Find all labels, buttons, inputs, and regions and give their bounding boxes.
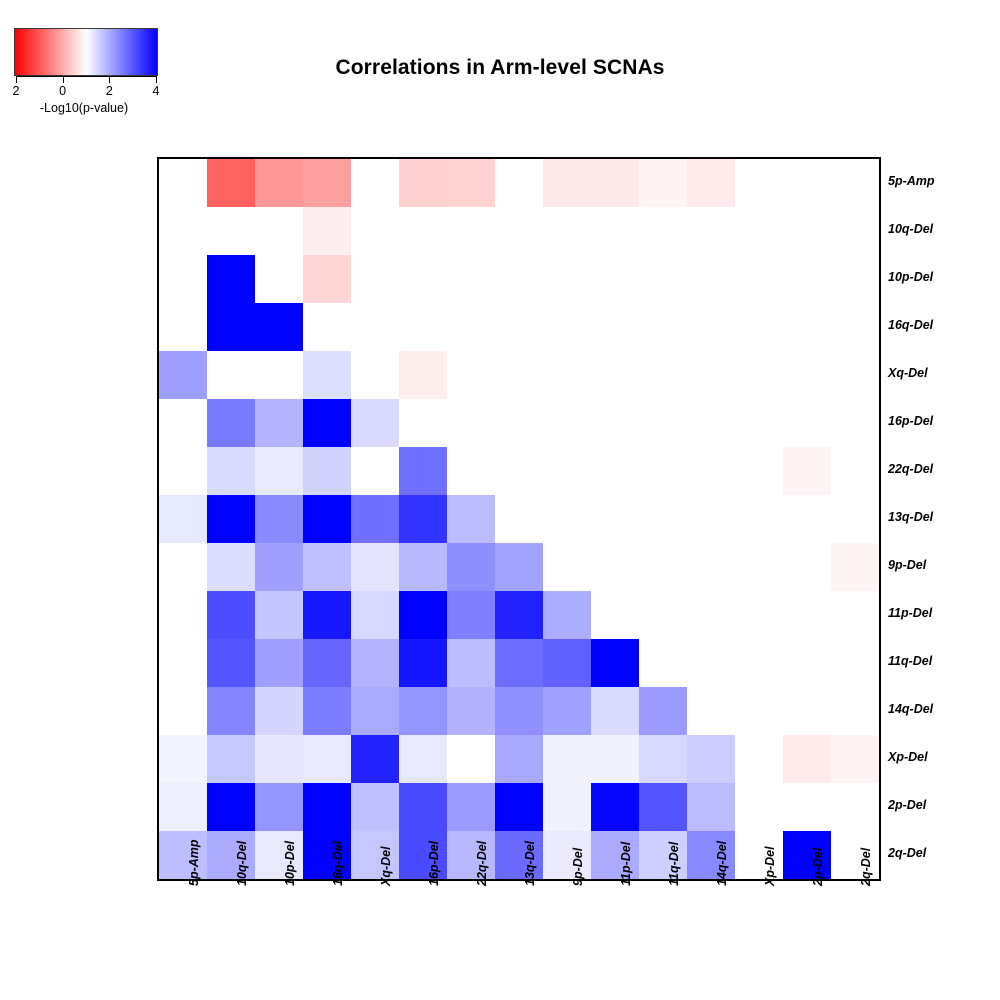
heatmap-cell[interactable] [639,159,687,207]
row-label-11q-del: 11q-Del [888,637,932,685]
heatmap-cell[interactable] [255,399,303,447]
column-label-text: 2p-Del [811,848,825,886]
heatmap-cell[interactable] [207,687,255,735]
row-label-2q-del: 2q-Del [888,829,926,877]
heatmap-cell[interactable] [399,159,447,207]
heatmap-cell[interactable] [303,783,351,831]
heatmap-cell[interactable] [351,687,399,735]
heatmap-cell[interactable] [591,687,639,735]
row-label-5p-amp: 5p-Amp [888,157,935,205]
row-label-2p-del: 2p-Del [888,781,926,829]
column-label-text: 22q-Del [475,841,489,886]
heatmap-cell[interactable] [255,591,303,639]
row-label-10p-del: 10p-Del [888,253,933,301]
colorbar-tick-label-3: 4 [146,84,166,98]
heatmap-cell[interactable] [447,591,495,639]
heatmap-cell[interactable] [399,351,447,399]
heatmap-cell[interactable] [207,735,255,783]
column-label-text: 5p-Amp [187,839,201,886]
page-title: Correlations in Arm-level SCNAs [0,56,1000,80]
heatmap-cell[interactable] [447,159,495,207]
heatmap-cell[interactable] [255,303,303,351]
heatmap-cell[interactable] [399,543,447,591]
heatmap-cell[interactable] [399,783,447,831]
heatmap-cell[interactable] [543,687,591,735]
heatmap-cell[interactable] [159,495,207,543]
heatmap-cell[interactable] [399,735,447,783]
heatmap-cell[interactable] [543,591,591,639]
heatmap-cell[interactable] [255,639,303,687]
heatmap-cell[interactable] [495,783,543,831]
heatmap-cell[interactable] [543,735,591,783]
heatmap-cell[interactable] [207,591,255,639]
heatmap-cell[interactable] [495,543,543,591]
heatmap-cell[interactable] [447,639,495,687]
heatmap-cell[interactable] [447,543,495,591]
heatmap-cell[interactable] [303,207,351,255]
column-label-text: 10p-Del [283,841,297,886]
heatmap-cell[interactable] [495,687,543,735]
heatmap-cell[interactable] [207,303,255,351]
heatmap-cell[interactable] [255,735,303,783]
heatmap-grid [159,159,879,879]
heatmap-cell[interactable] [255,159,303,207]
heatmap-cell[interactable] [303,543,351,591]
colorbar-caption: -Log10(p-value) [12,101,156,115]
heatmap-cell[interactable] [639,783,687,831]
heatmap-cell[interactable] [351,495,399,543]
heatmap-cell[interactable] [495,159,543,207]
colorbar-tick-label-1: 0 [53,84,73,98]
heatmap-cell[interactable] [495,591,543,639]
heatmap-cell[interactable] [207,159,255,207]
heatmap-cell[interactable] [687,783,735,831]
column-label-text: 13q-Del [523,841,537,886]
heatmap-cell[interactable] [591,639,639,687]
heatmap-cell[interactable] [303,639,351,687]
row-label-10q-del: 10q-Del [888,205,933,253]
heatmap-cell[interactable] [207,447,255,495]
heatmap-cell[interactable] [351,783,399,831]
heatmap-cell[interactable] [543,159,591,207]
colorbar-tick-labels: 2024 [10,84,162,100]
column-label-text: 9p-Del [571,848,585,886]
column-label-text: 2q-Del [859,848,873,886]
heatmap-cell[interactable] [207,495,255,543]
heatmap-cell[interactable] [831,735,879,783]
column-label-text: 16p-Del [427,841,441,886]
column-label-text: 10q-Del [235,841,249,886]
heatmap-cell[interactable] [207,543,255,591]
heatmap-cell[interactable] [399,639,447,687]
heatmap-cell[interactable] [255,495,303,543]
row-label-11p-del: 11p-Del [888,589,932,637]
heatmap-cell[interactable] [399,495,447,543]
column-label-text: Xp-Del [763,846,777,886]
heatmap-cell[interactable] [159,735,207,783]
heatmap-plot-area [157,157,881,881]
row-label-22q-del: 22q-Del [888,445,933,493]
heatmap-cell[interactable] [207,783,255,831]
heatmap-cell[interactable] [303,687,351,735]
heatmap-cell[interactable] [303,399,351,447]
heatmap-cell[interactable] [351,543,399,591]
column-label-text: 11q-Del [667,842,681,886]
heatmap-cell[interactable] [639,687,687,735]
heatmap-cell[interactable] [303,495,351,543]
column-label-text: 16q-Del [331,841,345,886]
heatmap-cell[interactable] [159,783,207,831]
heatmap-cell[interactable] [207,399,255,447]
row-label-13q-del: 13q-Del [888,493,933,541]
row-label-xp-del: Xp-Del [888,733,928,781]
column-label-text: 11p-Del [619,842,633,886]
row-label-14q-del: 14q-Del [888,685,933,733]
column-label-text: Xq-Del [379,846,393,886]
heatmap-cell[interactable] [303,447,351,495]
heatmap-cell[interactable] [207,255,255,303]
heatmap-cell[interactable] [687,159,735,207]
heatmap-cell[interactable] [399,687,447,735]
column-label-text: 14q-Del [715,841,729,886]
row-label-16q-del: 16q-Del [888,301,933,349]
colorbar-tick-label-2: 2 [99,84,119,98]
heatmap-cell[interactable] [447,495,495,543]
heatmap-cell[interactable] [399,447,447,495]
heatmap-cell[interactable] [351,447,399,495]
heatmap-cell[interactable] [591,159,639,207]
row-label-16p-del: 16p-Del [888,397,933,445]
heatmap-cell[interactable] [303,255,351,303]
heatmap-cell[interactable] [255,447,303,495]
row-label-xq-del: Xq-Del [888,349,928,397]
heatmap-cell[interactable] [255,783,303,831]
heatmap-cell[interactable] [255,543,303,591]
heatmap-cell[interactable] [831,543,879,591]
heatmap-cell[interactable] [207,639,255,687]
heatmap-cell[interactable] [783,735,831,783]
heatmap-cell[interactable] [783,447,831,495]
heatmap-cell[interactable] [495,735,543,783]
heatmap-cell[interactable] [543,783,591,831]
heatmap-cell[interactable] [351,159,399,207]
heatmap-cell[interactable] [447,687,495,735]
heatmap-cell[interactable] [591,783,639,831]
heatmap-cell[interactable] [351,399,399,447]
heatmap-cell[interactable] [447,783,495,831]
colorbar-tick-label-0: 2 [6,84,26,98]
row-label-9p-del: 9p-Del [888,541,926,589]
heatmap-cell[interactable] [399,591,447,639]
heatmap-cell[interactable] [351,591,399,639]
heatmap-cell[interactable] [687,735,735,783]
heatmap-cell[interactable] [351,735,399,783]
heatmap-cell[interactable] [303,159,351,207]
heatmap-cell[interactable] [447,735,495,783]
heatmap-cell[interactable] [303,351,351,399]
heatmap-cell[interactable] [351,639,399,687]
heatmap-cell[interactable] [543,639,591,687]
heatmap-cell[interactable] [303,735,351,783]
heatmap-cell[interactable] [591,735,639,783]
heatmap-cell[interactable] [159,351,207,399]
heatmap-cell[interactable] [255,687,303,735]
heatmap-cell[interactable] [639,735,687,783]
heatmap-cell[interactable] [303,591,351,639]
heatmap-cell[interactable] [495,639,543,687]
